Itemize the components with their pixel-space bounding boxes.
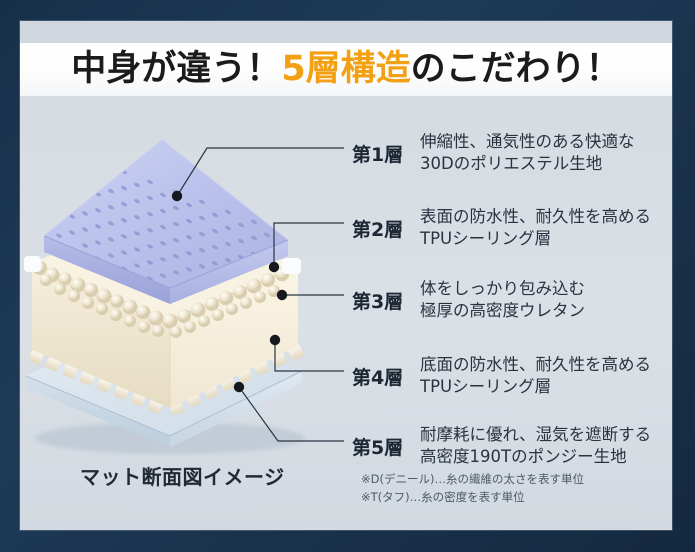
mattress-cross-section-illustration (10, 118, 340, 458)
title-suffix: のこだわり！ (411, 49, 621, 89)
layer-desc-4-line-1: 底面の防水性、耐久性を高める (420, 354, 651, 376)
diagram-caption: マット断面図イメージ (80, 461, 285, 490)
footnote-1: ※D(デニール)…糸の繊維の太さを表す単位 (361, 471, 584, 489)
layer-desc-4: 底面の防水性、耐久性を高める TPUシーリング層 (420, 354, 651, 399)
poster-root: 中身が違う！5層構造のこだわり！ (0, 0, 695, 552)
layer-desc-5: 耐摩耗に優れ、湿気を遮断する 高密度190Tのポンジー生地 (420, 424, 651, 469)
layer-desc-5-line-1: 耐摩耗に優れ、湿気を遮断する (420, 424, 651, 446)
layer-desc-2-line-2: TPUシーリング層 (420, 228, 651, 250)
layer-tag-2: 第2層 (352, 206, 420, 242)
footnotes: ※D(デニール)…糸の繊維の太さを表す単位 ※T(タフ)…糸の密度を表す単位 (361, 471, 584, 507)
layer-row-4: 第4層 底面の防水性、耐久性を高める TPUシーリング層 (352, 354, 651, 399)
footnote-2: ※T(タフ)…糸の密度を表す単位 (361, 489, 584, 507)
layer-desc-3: 体をしっかり包み込む 極厚の高密度ウレタン (420, 278, 585, 323)
layer-desc-2: 表面の防水性、耐久性を高める TPUシーリング層 (420, 206, 651, 251)
layer-desc-1-line-2: 30Dのポリエステル生地 (420, 153, 635, 175)
layer-desc-1: 伸縮性、通気性のある快適な 30Dのポリエステル生地 (420, 131, 635, 176)
layer-tag-5: 第5層 (352, 424, 420, 460)
layer-row-2: 第2層 表面の防水性、耐久性を高める TPUシーリング層 (352, 206, 651, 251)
layer-row-1: 第1層 伸縮性、通気性のある快適な 30Dのポリエステル生地 (352, 131, 635, 176)
layer-desc-4-line-2: TPUシーリング層 (420, 376, 651, 398)
title-band: 中身が違う！5層構造のこだわり！ (20, 43, 672, 96)
layer-tag-4: 第4層 (352, 354, 420, 390)
title-prefix: 中身が違う！ (71, 49, 281, 89)
layer-desc-1-line-1: 伸縮性、通気性のある快適な (420, 131, 635, 153)
layer-tag-1: 第1層 (352, 131, 420, 167)
title-highlight: 5層構造 (281, 49, 410, 89)
layer-row-5: 第5層 耐摩耗に優れ、湿気を遮断する 高密度190Tのポンジー生地 (352, 424, 651, 469)
corner-post-left (24, 256, 41, 272)
layer-desc-3-line-2: 極厚の高密度ウレタン (420, 300, 585, 322)
page-title: 中身が違う！5層構造のこだわり！ (71, 52, 620, 87)
layer-row-3: 第3層 体をしっかり包み込む 極厚の高密度ウレタン (352, 278, 585, 323)
layer-tag-3: 第3層 (352, 278, 420, 314)
layer-desc-3-line-1: 体をしっかり包み込む (420, 278, 585, 300)
layer-desc-5-line-2: 高密度190Tのポンジー生地 (420, 446, 651, 468)
corner-post-right (282, 258, 301, 274)
layer-desc-2-line-1: 表面の防水性、耐久性を高める (420, 206, 651, 228)
